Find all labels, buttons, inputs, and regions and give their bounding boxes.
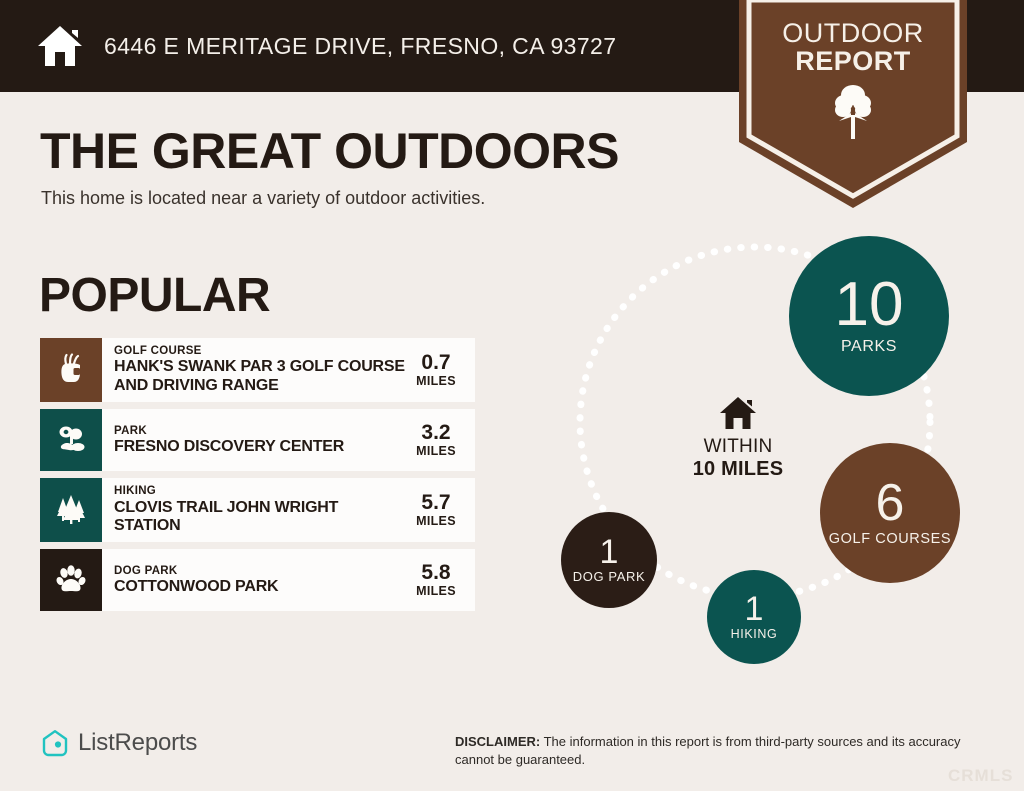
list-item-distance-unit: MILES <box>405 514 467 528</box>
list-item-category: HIKING <box>114 484 405 498</box>
pine-trees-icon <box>53 492 89 528</box>
list-item-name: HANK'S SWANK PAR 3 GOLF COURSE AND DRIVI… <box>114 358 405 396</box>
list-item-body: DOG PARK COTTONWOOD PARK 5.8 MILES <box>102 549 475 611</box>
property-address: 6446 E MERITAGE DRIVE, FRESNO, CA 93727 <box>104 33 616 60</box>
list-item-distance-value: 5.8 <box>405 562 467 584</box>
park-trees-icon <box>53 422 89 458</box>
list-item-distance: 5.8 MILES <box>405 562 471 598</box>
list-item-distance-unit: MILES <box>405 584 467 598</box>
list-item-category: DOG PARK <box>114 564 405 578</box>
popular-heading: POPULAR <box>39 268 270 323</box>
list-item-distance: 0.7 MILES <box>405 352 471 388</box>
bubble-parks-count: 10 <box>835 276 904 335</box>
list-item-body: PARK FRESNO DISCOVERY CENTER 3.2 MILES <box>102 409 475 471</box>
list-item[interactable]: GOLF COURSE HANK'S SWANK PAR 3 GOLF COUR… <box>40 338 475 402</box>
paw-print-icon <box>53 562 89 598</box>
bubble-parks-label: PARKS <box>841 339 897 356</box>
center-miles-text: 10 MILES <box>673 458 803 481</box>
list-item-name: CLOVIS TRAIL JOHN WRIGHT STATION <box>114 499 405 537</box>
list-item-body: GOLF COURSE HANK'S SWANK PAR 3 GOLF COUR… <box>102 338 475 402</box>
list-item-text: HIKING CLOVIS TRAIL JOHN WRIGHT STATION <box>114 484 405 536</box>
page-subtitle: This home is located near a variety of o… <box>41 188 485 209</box>
list-item[interactable]: DOG PARK COTTONWOOD PARK 5.8 MILES <box>40 549 475 611</box>
list-item-distance-unit: MILES <box>405 374 467 388</box>
listreports-house-icon <box>40 728 70 758</box>
list-item-name: FRESNO DISCOVERY CENTER <box>114 438 405 457</box>
within-10-miles-diagram: 10 PARKS 6 GOLF COURSES 1 DOG PARK 1 HIK… <box>540 225 1000 675</box>
list-item-icon-tile <box>40 338 102 402</box>
list-item-distance: 3.2 MILES <box>405 422 471 458</box>
bubble-hiking[interactable]: 1 HIKING <box>707 570 801 664</box>
list-item-distance-value: 0.7 <box>405 352 467 374</box>
bubble-golf-label: GOLF COURSES <box>829 532 951 547</box>
badge-line-report: REPORT <box>733 48 973 76</box>
list-item-category: PARK <box>114 424 405 438</box>
crmls-watermark: CRMLS <box>948 766 1013 786</box>
page-title: THE GREAT OUTDOORS <box>40 122 619 180</box>
list-item-body: HIKING CLOVIS TRAIL JOHN WRIGHT STATION … <box>102 478 475 542</box>
badge-text: OUTDOOR REPORT <box>733 20 973 75</box>
bubble-dog-label: DOG PARK <box>573 570 645 584</box>
bubble-dog-count: 1 <box>600 536 619 568</box>
bubble-golf-count: 6 <box>876 479 905 528</box>
disclaimer-label: DISCLAIMER: <box>455 734 540 749</box>
listreports-logo-text: ListReports <box>78 729 197 757</box>
badge-line-outdoor: OUTDOOR <box>733 20 973 48</box>
list-item-distance-value: 5.7 <box>405 492 467 514</box>
outdoor-report-badge: OUTDOOR REPORT <box>733 0 973 214</box>
list-item-icon-tile <box>40 478 102 542</box>
diagram-center-label: WITHIN 10 MILES <box>673 395 803 481</box>
list-item-icon-tile <box>40 549 102 611</box>
disclaimer: DISCLAIMER: The information in this repo… <box>455 733 983 769</box>
list-item-text: GOLF COURSE HANK'S SWANK PAR 3 GOLF COUR… <box>114 344 405 396</box>
list-item[interactable]: HIKING CLOVIS TRAIL JOHN WRIGHT STATION … <box>40 478 475 542</box>
bubble-golf-courses[interactable]: 6 GOLF COURSES <box>820 443 960 583</box>
home-icon <box>718 395 758 431</box>
list-item-category: GOLF COURSE <box>114 344 405 358</box>
list-item-distance: 5.7 MILES <box>405 492 471 528</box>
list-item-distance-value: 3.2 <box>405 422 467 444</box>
list-item-distance-unit: MILES <box>405 444 467 458</box>
bubble-hiking-label: HIKING <box>731 628 778 641</box>
list-item[interactable]: PARK FRESNO DISCOVERY CENTER 3.2 MILES <box>40 409 475 471</box>
home-icon <box>36 24 84 68</box>
golf-bag-icon <box>53 352 89 388</box>
listreports-logo[interactable]: ListReports <box>40 728 197 758</box>
list-item-text: DOG PARK COTTONWOOD PARK <box>114 564 405 597</box>
list-item-icon-tile <box>40 409 102 471</box>
outdoor-report-page: 6446 E MERITAGE DRIVE, FRESNO, CA 93727 … <box>0 0 1024 791</box>
bubble-hiking-count: 1 <box>745 593 764 625</box>
list-item-name: COTTONWOOD PARK <box>114 578 405 597</box>
bubble-dog-park[interactable]: 1 DOG PARK <box>561 512 657 608</box>
popular-list: GOLF COURSE HANK'S SWANK PAR 3 GOLF COUR… <box>40 338 475 618</box>
bubble-parks[interactable]: 10 PARKS <box>789 236 949 396</box>
list-item-text: PARK FRESNO DISCOVERY CENTER <box>114 424 405 457</box>
center-within-text: WITHIN <box>673 437 803 458</box>
